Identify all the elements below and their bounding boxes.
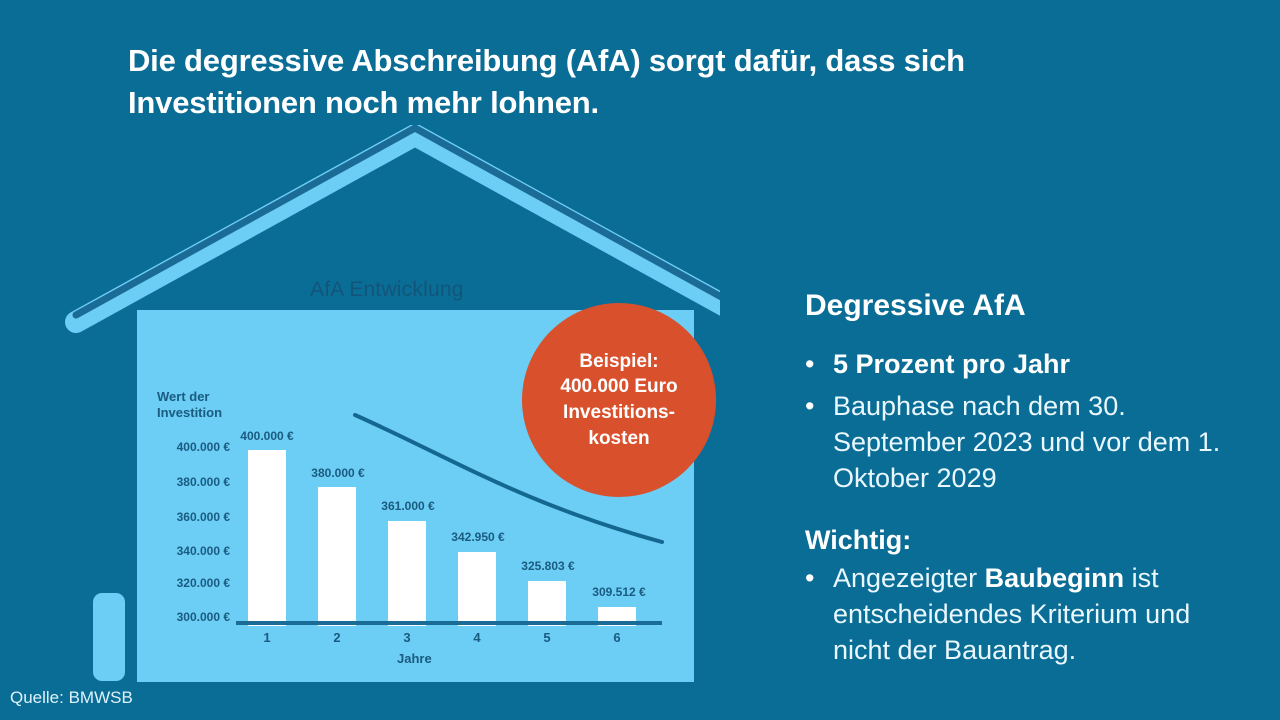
x-tick-label: 1 (263, 630, 270, 645)
bar-value-label-6: 309.512 € (592, 585, 645, 599)
x-axis-ticks: 1 2 3 4 5 6 (0, 630, 720, 650)
panel-subheading: Wichtig: (805, 524, 1225, 556)
y-tick-label: 360.000 € (158, 510, 230, 524)
callout-line-3: Investitions- (563, 400, 675, 426)
bullet-dot-icon: • (805, 388, 833, 424)
y-tick-label: 320.000 € (158, 576, 230, 590)
important-prefix: Angezeigter (833, 563, 985, 593)
bullet-dot-icon: • (805, 560, 833, 596)
important-keyword: Baubeginn (985, 563, 1125, 593)
y-tick-label: 340.000 € (158, 544, 230, 558)
y-tick-label: 300.000 € (158, 610, 230, 624)
bullet-text: Bauphase nach dem 30. September 2023 und… (833, 388, 1225, 496)
chart-baseline (236, 621, 662, 625)
chart-title: AfA Entwicklung (310, 278, 464, 302)
x-tick-label: 2 (333, 630, 340, 645)
y-axis-ticks: 400.000 € 380.000 € 360.000 € 340.000 € … (158, 0, 230, 720)
callout-line-1: Beispiel: (579, 349, 658, 375)
callout-line-4: kosten (588, 426, 649, 452)
example-callout-badge: Beispiel: 400.000 Euro Investitions- kos… (522, 303, 716, 497)
callout-line-2: 400.000 Euro (560, 374, 677, 400)
list-item-important: • Angezeigter Baubeginn ist entscheidend… (805, 560, 1225, 668)
source-caption: Quelle: BMWSB (10, 688, 133, 708)
important-bullet-text: Angezeigter Baubeginn ist entscheidendes… (833, 560, 1225, 668)
x-tick-label: 4 (473, 630, 480, 645)
page-title: Die degressive Abschreibung (AfA) sorgt … (128, 40, 1058, 124)
y-tick-label: 400.000 € (158, 440, 230, 454)
info-panel: Degressive AfA • 5 Prozent pro Jahr • Ba… (805, 288, 1225, 674)
bullet-dot-icon: • (805, 346, 833, 382)
panel-heading: Degressive AfA (805, 288, 1225, 324)
y-tick-label: 380.000 € (158, 475, 230, 489)
slide-canvas: Die degressive Abschreibung (AfA) sorgt … (0, 0, 1280, 720)
bar-year-5 (528, 581, 566, 626)
list-item: • Bauphase nach dem 30. September 2023 u… (805, 388, 1225, 496)
bullet-text: 5 Prozent pro Jahr (833, 346, 1225, 382)
x-tick-label: 5 (543, 630, 550, 645)
list-item: • 5 Prozent pro Jahr (805, 346, 1225, 382)
x-tick-label: 3 (403, 630, 410, 645)
x-axis-title: Jahre (397, 651, 432, 666)
x-tick-label: 6 (613, 630, 620, 645)
bar-value-label-1: 400.000 € (240, 429, 293, 443)
bar-year-1 (248, 450, 286, 626)
